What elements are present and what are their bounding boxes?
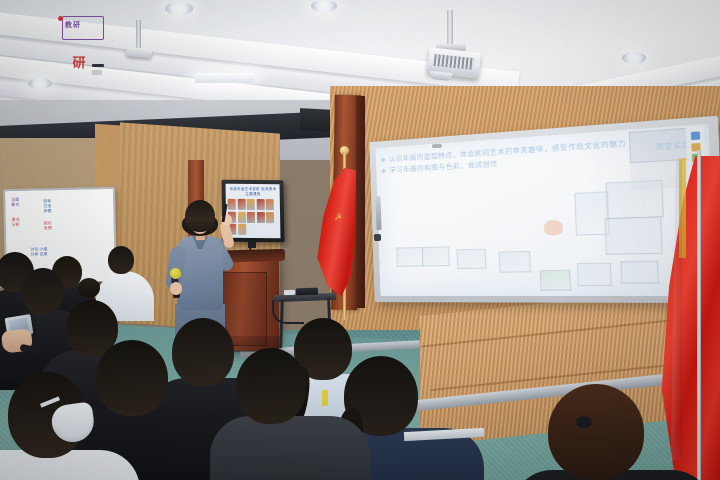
recessed-downlight-icon <box>165 2 193 15</box>
conference-room-photo: 议题 要点 重点 分析 目标 方法 步骤 结论 反馈 讨论 小组 分享 记录 教… <box>0 0 720 480</box>
slide-thumbnail <box>499 251 531 273</box>
audience-head <box>108 246 134 274</box>
audience-torso <box>210 416 370 480</box>
monitor-thumbnail <box>247 211 255 222</box>
whiteboard-red-mark: 研 <box>62 52 96 74</box>
slide-decorative-shape <box>544 220 564 236</box>
camera-pole <box>136 20 141 50</box>
monitor-slide-title: 传统年画艺术赏析 民间美术主题课例 <box>229 187 277 197</box>
equipment-cable <box>272 300 304 324</box>
audience-torso <box>0 450 140 480</box>
monitor-thumbnail <box>256 212 264 223</box>
flag-emblem-icon: ☭ <box>332 211 343 222</box>
presenter-hair <box>185 200 215 232</box>
table-paper <box>284 290 295 295</box>
screen-power-button[interactable] <box>374 234 381 241</box>
hair-tie <box>576 416 592 428</box>
lanyard-badge <box>322 390 328 406</box>
audience-hair-bun <box>78 278 100 298</box>
audience-head <box>172 318 234 386</box>
audience-head <box>236 348 306 424</box>
slide-thumbnail <box>620 261 659 284</box>
whiteboard-note: 讨论 小组 分享 记录 <box>30 246 47 256</box>
slide-thumbnail <box>456 249 486 269</box>
monitor-thumbnail <box>266 212 274 223</box>
bullet-icon: ◆ <box>381 156 387 163</box>
slide-thumbnail <box>604 216 662 255</box>
whiteboard-note: 重点 分析 <box>12 217 20 227</box>
monitor-thumbnail <box>247 199 255 210</box>
whiteboard-dot-mark <box>58 16 63 21</box>
microphone-icon <box>170 268 181 279</box>
monitor-thumbnail <box>256 199 264 210</box>
slide-thumbnail <box>577 263 612 287</box>
audience-head <box>96 340 168 416</box>
recessed-downlight-icon <box>28 78 52 89</box>
flag-pole-right <box>697 150 701 480</box>
whiteboard-note: 目标 方法 步骤 <box>43 198 51 213</box>
slide-thumbnail <box>540 270 571 291</box>
pen-icon[interactable] <box>690 131 699 140</box>
bullet-icon: ◆ <box>381 167 387 174</box>
slide-thumbnail <box>422 246 450 266</box>
audience-head <box>22 268 64 314</box>
whiteboard-eraser[interactable] <box>92 70 102 75</box>
slide-thumbnail <box>396 247 423 267</box>
projector-mount-pole <box>447 10 453 48</box>
screen-top-sensor <box>432 144 442 148</box>
whiteboard-boxed-text: 教研 <box>65 20 81 30</box>
recessed-downlight-icon <box>311 0 337 12</box>
whiteboard-note: 议题 要点 <box>11 197 19 207</box>
whiteboard-marker-pen[interactable] <box>92 64 104 67</box>
audience-head <box>548 384 644 480</box>
table-equipment-box <box>296 288 318 296</box>
whiteboard-note: 结论 反馈 <box>44 220 52 230</box>
monitor-thumbnail <box>266 199 274 210</box>
recessed-downlight-icon <box>622 52 646 64</box>
party-flag-left <box>314 168 356 296</box>
wooden-column-edge <box>356 96 365 308</box>
presenter-left-hand <box>170 282 182 295</box>
linear-ceiling-light <box>195 73 255 83</box>
projection-screen-surface[interactable]: ◆认识年画的造型特点，体会民间艺术的审美趣味，感受传统文化的魅力 ◆学习年画的构… <box>376 124 716 296</box>
